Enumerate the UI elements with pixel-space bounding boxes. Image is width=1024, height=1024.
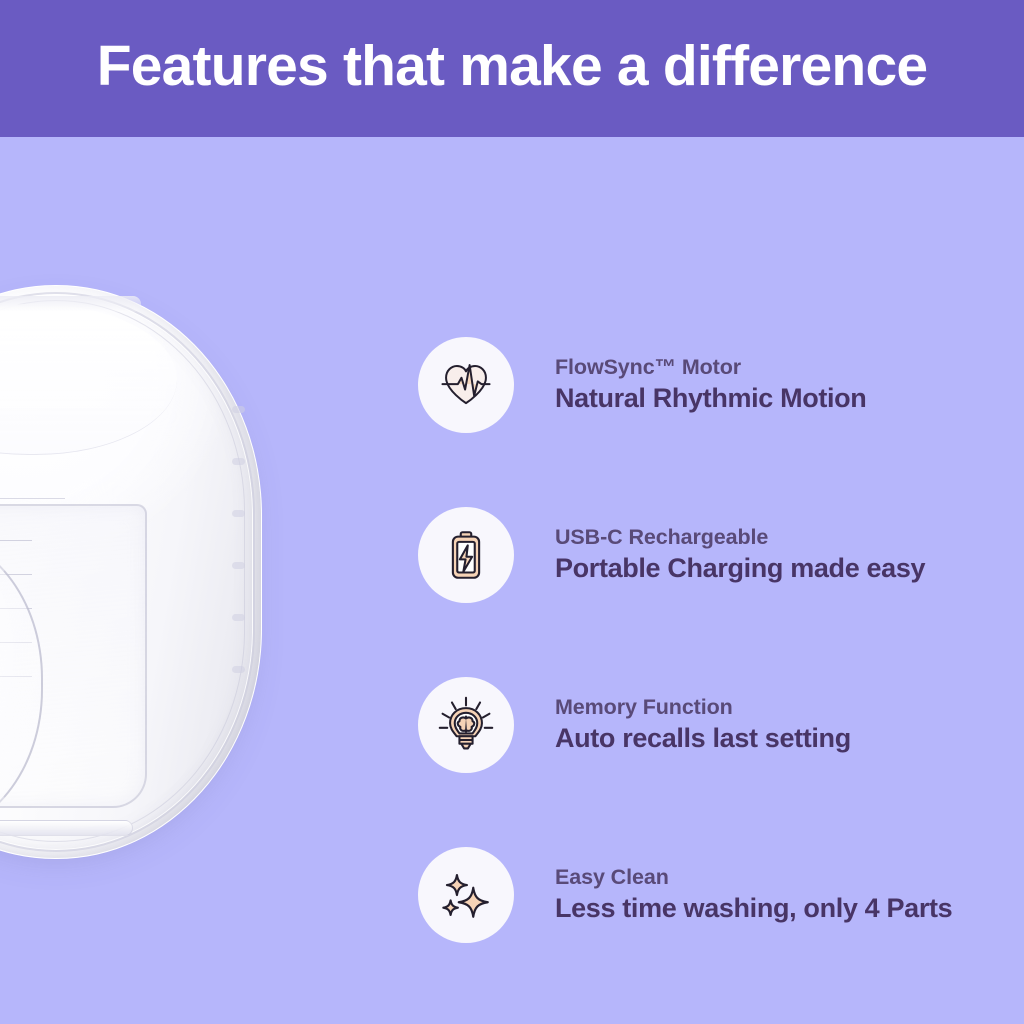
lightbulb-brain-icon — [418, 677, 514, 773]
feature-list: FlowSync™ Motor Natural Rhythmic Motion … — [418, 300, 1008, 980]
product-photo: ght owl — [0, 285, 270, 865]
pump-edge-bumps — [221, 406, 247, 736]
feature-item-easy-clean: Easy Clean Less time washing, only 4 Par… — [418, 810, 1008, 980]
sparkles-icon — [418, 847, 514, 943]
feature-item-flowsync-motor: FlowSync™ Motor Natural Rhythmic Motion — [418, 300, 1008, 470]
heart-pulse-icon — [418, 337, 514, 433]
feature-subtitle: Auto recalls last setting — [555, 721, 851, 756]
pump-body: ght owl — [0, 285, 262, 859]
feature-item-usb-c-rechargeable: USB-C Rechargeable Portable Charging mad… — [418, 470, 1008, 640]
feature-item-memory-function: Memory Function Auto recalls last settin… — [418, 640, 1008, 810]
feature-title: USB-C Rechargeable — [555, 524, 925, 552]
pump-top-slot — [0, 296, 141, 312]
feature-text-block: FlowSync™ Motor Natural Rhythmic Motion — [555, 354, 866, 417]
feature-poster: Features that make a difference ght owl — [0, 0, 1024, 1024]
feature-title: Easy Clean — [555, 864, 952, 892]
feature-subtitle: Portable Charging made easy — [555, 551, 925, 586]
feature-subtitle: Natural Rhythmic Motion — [555, 381, 866, 416]
feature-text-block: Easy Clean Less time washing, only 4 Par… — [555, 864, 952, 927]
feature-subtitle: Less time washing, only 4 Parts — [555, 891, 952, 926]
battery-charging-icon — [418, 507, 514, 603]
header-band: Features that make a difference — [0, 0, 1024, 137]
pump-divider — [0, 498, 65, 499]
pump-base-lip — [0, 820, 133, 836]
feature-title: Memory Function — [555, 694, 851, 722]
page-title: Features that make a difference — [97, 38, 928, 99]
feature-text-block: Memory Function Auto recalls last settin… — [555, 694, 851, 757]
feature-title: FlowSync™ Motor — [555, 354, 866, 382]
feature-text-block: USB-C Rechargeable Portable Charging mad… — [555, 524, 925, 587]
